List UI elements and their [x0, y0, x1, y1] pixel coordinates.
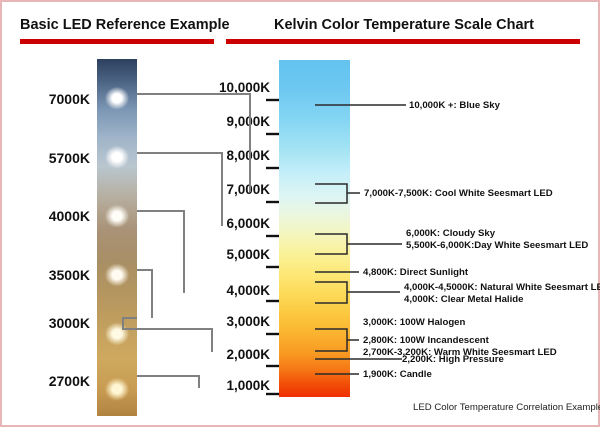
led-label-4000k: 4000K	[20, 208, 90, 224]
scale-tick-2000k: 2,000K	[196, 347, 270, 362]
annotation-blue-sky: 10,000K +: Blue Sky	[409, 100, 500, 111]
annotation-cloudy-sky: 6,000K: Cloudy Sky	[406, 228, 495, 239]
annotation-high-pressure: 2,200K: High Pressure	[402, 354, 504, 365]
right-title-rule	[226, 39, 580, 44]
annotation-incandescent: 2,800K: 100W Incandescent	[363, 335, 489, 346]
scale-tick-9000k: 9,000K	[196, 114, 270, 129]
scale-tick-7000k: 7,000K	[196, 182, 270, 197]
chart-frame: Basic LED Reference Example Kelvin Color…	[0, 0, 600, 427]
annotation-metal-halide: 4,000K: Clear Metal Halide	[404, 294, 523, 305]
annotation-day-white-led: 5,500K-6,000K:Day White Seesmart LED	[406, 240, 588, 251]
scale-tick-1000k: 1,000K	[196, 378, 270, 393]
right-panel-title: Kelvin Color Temperature Scale Chart	[274, 17, 534, 33]
kelvin-gradient-bar	[279, 60, 350, 397]
scale-tick-6000k: 6,000K	[196, 216, 270, 231]
figure-caption: LED Color Temperature Correlation Exampl…	[413, 402, 600, 413]
scale-tick-3000k: 3,000K	[196, 314, 270, 329]
left-title-rule	[20, 39, 214, 44]
scale-tick-10000k: 10,000K	[196, 80, 270, 95]
led-strip-image	[97, 59, 137, 416]
annotation-candle: 1,900K: Candle	[363, 369, 432, 380]
led-label-7000k: 7000K	[20, 91, 90, 107]
annotation-cool-white-led: 7,000K-7,500K: Cool White Seesmart LED	[364, 188, 553, 199]
scale-tick-5000k: 5,000K	[196, 247, 270, 262]
annotation-halogen: 3,000K: 100W Halogen	[363, 317, 465, 328]
led-label-3500k: 3500K	[20, 267, 90, 283]
scale-tick-8000k: 8,000K	[196, 148, 270, 163]
annotation-natural-white-led: 4,000K-4,5000K: Natural White Seesmart L…	[404, 282, 600, 293]
left-panel-title: Basic LED Reference Example	[20, 17, 230, 33]
led-label-2700k: 2700K	[20, 373, 90, 389]
led-label-5700k: 5700K	[20, 150, 90, 166]
led-label-3000k: 3000K	[20, 315, 90, 331]
scale-tick-4000k: 4,000K	[196, 283, 270, 298]
annotation-direct-sunlight: 4,800K: Direct Sunlight	[363, 267, 468, 278]
